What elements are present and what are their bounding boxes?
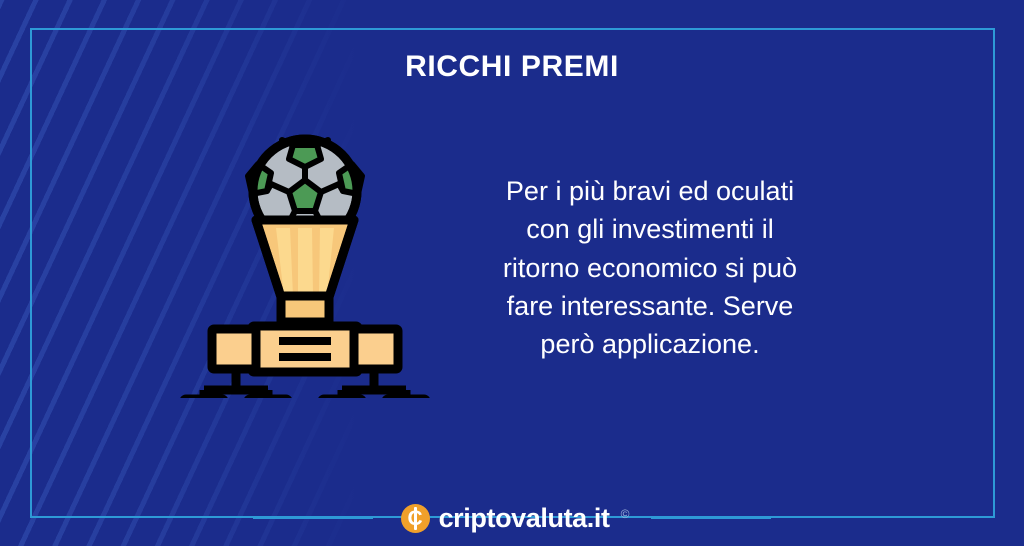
coin-letter: C — [401, 504, 430, 533]
coin-icon: C — [401, 504, 430, 533]
footer-rule-left — [253, 517, 373, 519]
trophy-org-chart-illustration — [180, 128, 430, 398]
body-line: ritorno economico si può — [440, 249, 860, 287]
body-line: però applicazione. — [440, 325, 860, 363]
brand-name: criptovaluta.it — [439, 503, 610, 534]
page-title: RICCHI PREMI — [0, 50, 1024, 84]
brand-logo: C criptovaluta.it © — [401, 503, 630, 534]
body-line: fare interessante. Serve — [440, 287, 860, 325]
footer-brand-lockup: C criptovaluta.it © — [0, 498, 1024, 538]
trophy-cup — [256, 220, 354, 322]
body-line: Per i più bravi ed oculati — [440, 172, 860, 210]
body-text: Per i più bravi ed oculati con gli inves… — [440, 172, 860, 364]
slide-root: RICCHI PREMI — [0, 0, 1024, 546]
footer-rule-right — [651, 517, 771, 519]
body-line: con gli investimenti il — [440, 210, 860, 248]
copyright-symbol: © — [621, 507, 630, 521]
